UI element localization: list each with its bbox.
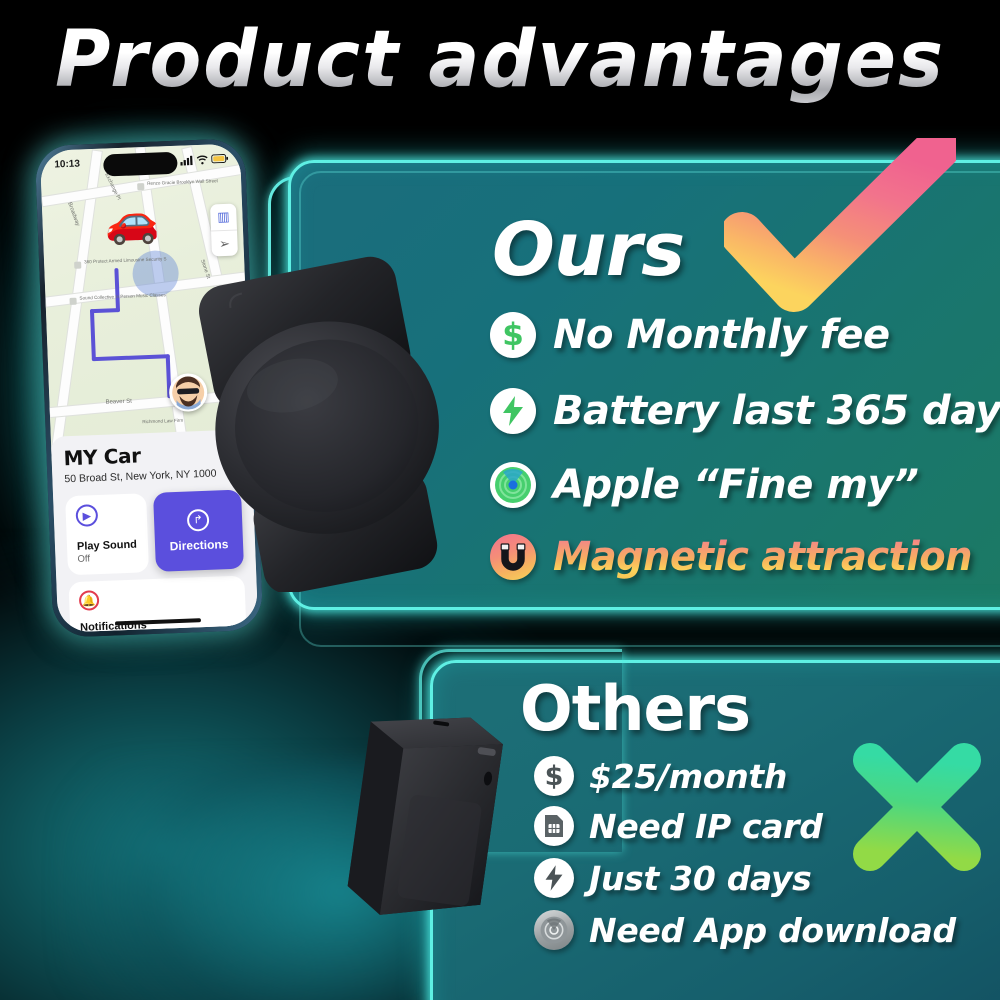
play-sound-button[interactable]: ▶ Play Sound Off — [65, 493, 149, 575]
play-sound-label: Play Sound — [77, 539, 138, 553]
gps-tracker-device — [196, 252, 454, 592]
map-poi — [137, 183, 144, 190]
feature-label: Need IP card — [589, 807, 823, 846]
feature-label: Need App download — [589, 911, 956, 950]
feature-row: Apple “Fine my” — [490, 462, 918, 508]
notifications-label: Notifications — [80, 616, 236, 633]
battery-icon — [211, 154, 228, 164]
map-controls[interactable]: ▥ ➢ — [210, 204, 238, 257]
play-sound-state: Off — [77, 552, 138, 565]
page-title: Product advantages — [15, 14, 985, 106]
street-label: Beaver St — [105, 400, 132, 406]
lightning-bolt-icon — [490, 388, 536, 434]
sim-card-icon — [534, 806, 574, 846]
cellular-signal-icon — [180, 155, 193, 165]
feature-label: Apple “Fine my” — [553, 462, 918, 508]
feature-row: Magnetic attraction — [490, 534, 989, 580]
street-label: Broadway — [66, 202, 80, 227]
phone-notch — [103, 152, 178, 177]
competitor-device — [336, 700, 512, 934]
bell-icon: 🔔 — [79, 590, 100, 611]
feature-row: Just 30 days — [534, 858, 812, 898]
lightning-bolt-icon — [534, 858, 574, 898]
dollar-icon: $ — [490, 312, 536, 358]
map-poi — [69, 298, 76, 305]
status-time: 10:13 — [54, 158, 80, 170]
feature-label: Just 30 days — [589, 859, 812, 898]
map-layers-icon[interactable]: ▥ — [210, 204, 237, 231]
feature-label: $25/month — [589, 757, 787, 796]
feature-row: $ No Monthly fee — [490, 312, 890, 358]
check-mark-icon — [724, 138, 956, 320]
feature-label: Battery last 365 days — [553, 388, 1000, 434]
play-icon: ▶ — [75, 504, 98, 527]
radar-icon — [534, 910, 574, 950]
x-mark-icon — [846, 736, 988, 878]
wifi-icon — [196, 154, 208, 164]
magnet-icon — [490, 534, 536, 580]
others-heading: Others — [520, 676, 750, 742]
feature-row: $ $25/month — [534, 756, 787, 796]
green-car-icon: 🚗 — [104, 198, 160, 244]
feature-row: Need IP card — [534, 806, 823, 846]
feature-row: Need App download — [534, 910, 956, 950]
ours-heading: Ours — [492, 212, 684, 288]
feature-label: Magnetic attraction — [553, 534, 972, 580]
advertisement-canvas: Product advantages Ours $ No Monthly fee — [0, 0, 1000, 1000]
find-my-radar-icon — [490, 462, 536, 508]
title-area: Product advantages — [0, 14, 1000, 110]
dollar-icon: $ — [534, 756, 574, 796]
feature-label: No Monthly fee — [553, 312, 890, 358]
map-poi — [74, 262, 81, 269]
feature-row: Battery last 365 days — [490, 388, 1000, 434]
